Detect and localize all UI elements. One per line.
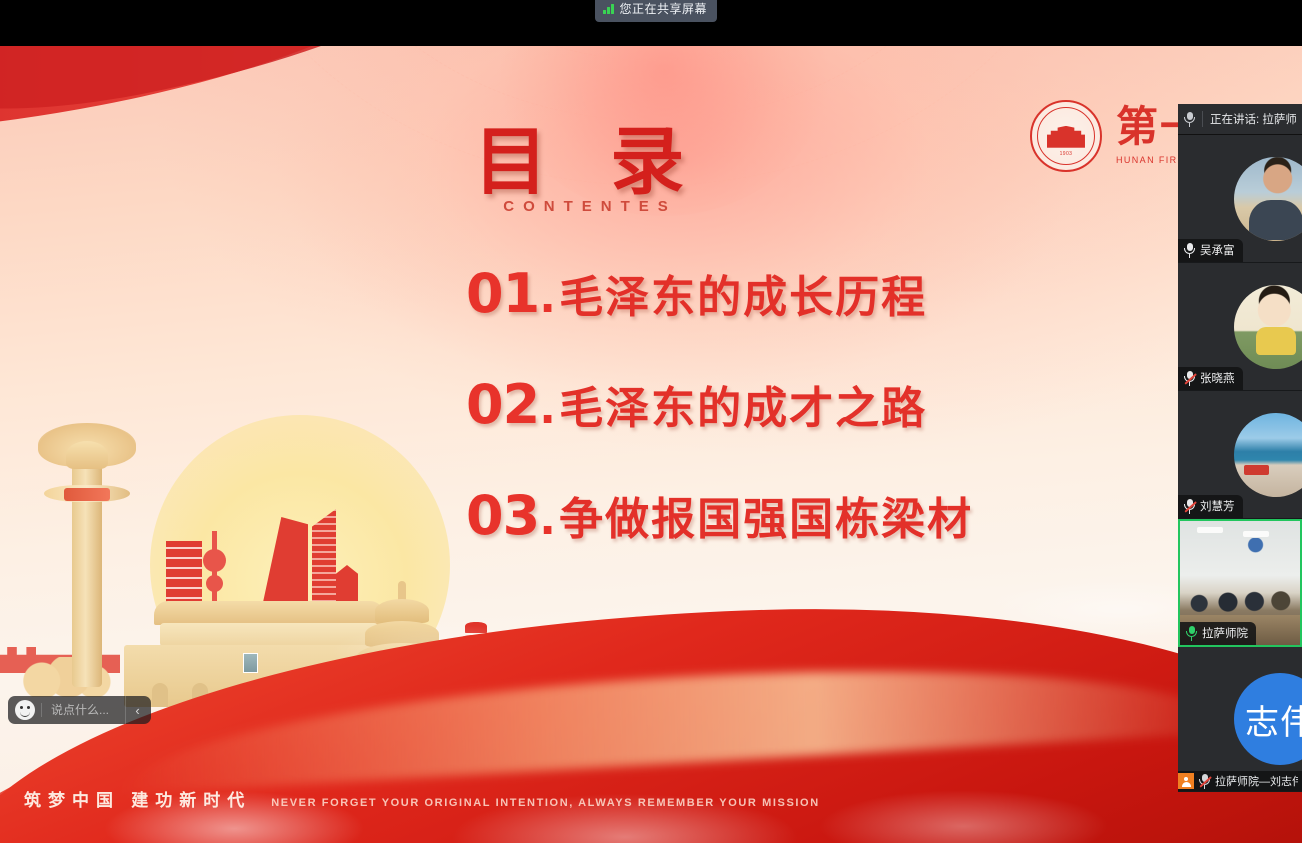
participant-tile[interactable]: 志伟 拉萨师院—刘志伟 <box>1178 647 1302 792</box>
slide-footer: 筑梦中国 建功新时代 NEVER FORGET YOUR ORIGINAL IN… <box>24 786 820 811</box>
screen-sharing-indicator[interactable]: 您正在共享屏幕 <box>595 0 717 22</box>
participant-name-chip: 拉萨师院—刘志伟 <box>1178 771 1302 791</box>
participant-name: 拉萨师院 <box>1202 625 1248 641</box>
participant-name-chip: 张晓燕 <box>1178 367 1243 390</box>
seal-year: 1903 <box>1060 151 1073 157</box>
active-speaker-bar: 正在讲话: 拉萨师… <box>1178 104 1302 135</box>
participant-tile[interactable]: 刘慧芳 <box>1178 391 1302 519</box>
participant-name-chip: 拉萨师院 <box>1180 622 1256 645</box>
top-system-bar: 您正在共享屏幕 <box>0 0 1302 46</box>
avatar-initials: 志伟 <box>1234 673 1302 765</box>
toc-item: 01 . 毛泽东的成长历程 <box>0 261 1180 372</box>
huabiao-cap <box>66 441 108 469</box>
microphone-muted-icon <box>1184 371 1195 386</box>
slide-footer-english: NEVER FORGET YOUR ORIGINAL INTENTION, AL… <box>271 797 820 809</box>
participant-name: 刘慧芳 <box>1200 498 1235 514</box>
participant-tile[interactable]: 张晓燕 <box>1178 263 1302 391</box>
lasa-normal-university-wall-logo <box>1245 538 1293 575</box>
microphone-icon <box>1186 626 1197 641</box>
huabiao-band <box>64 488 110 501</box>
participant-name: 吴承富 <box>1200 242 1235 258</box>
participant-name: 拉萨师院—刘志伟 <box>1215 773 1298 789</box>
participant-name-chip: 刘慧芳 <box>1178 495 1243 518</box>
toc-item-label: 毛泽东的成长历程 <box>559 261 927 325</box>
chat-message-input[interactable] <box>41 703 119 717</box>
shared-screen-slide: 目 录 CONTENTES 01 . 毛泽东的成长历程 02 . 毛泽东的成才之… <box>0 46 1302 843</box>
toc-item-number: 01 <box>466 262 539 325</box>
page-subtitle: CONTENTES <box>0 198 1180 215</box>
microphone-icon <box>1184 112 1195 127</box>
lower-mist <box>0 723 1302 843</box>
university-seal-icon: 1903 <box>1030 100 1102 172</box>
participant-name: 张晓燕 <box>1200 370 1235 386</box>
avatar: 志伟 <box>1178 647 1302 791</box>
slide-footer-chinese: 筑梦中国 建功新时代 <box>24 786 251 811</box>
host-icon <box>1178 773 1194 789</box>
microphone-muted-icon <box>1184 499 1195 514</box>
microphone-icon <box>1184 243 1195 258</box>
participant-tile[interactable]: 吴承富 <box>1178 135 1302 263</box>
sharing-notice-label: 您正在共享屏幕 <box>620 0 708 17</box>
seal-building-glyph <box>1047 126 1085 148</box>
chevron-left-icon[interactable]: ‹ <box>125 696 149 724</box>
page-title: 目 录 <box>0 102 1180 209</box>
toc-item-label: 毛泽东的成才之路 <box>559 372 927 436</box>
participant-tile-active-speaker[interactable]: 拉萨师院 <box>1178 519 1302 647</box>
participants-panel[interactable]: 正在讲话: 拉萨师… 吴承富 张晓燕 <box>1178 104 1302 775</box>
smiley-icon[interactable] <box>15 700 35 720</box>
toc-item-label: 争做报国强国栋梁材 <box>559 483 973 547</box>
active-speaker-label: 正在讲话: 拉萨师… <box>1202 111 1296 127</box>
participant-name-chip: 吴承富 <box>1178 239 1243 262</box>
chat-input-bar[interactable]: ‹ <box>8 696 151 724</box>
signal-bars-icon <box>603 3 614 14</box>
microphone-muted-icon <box>1199 774 1210 789</box>
toc-item-dot: . <box>540 263 555 325</box>
